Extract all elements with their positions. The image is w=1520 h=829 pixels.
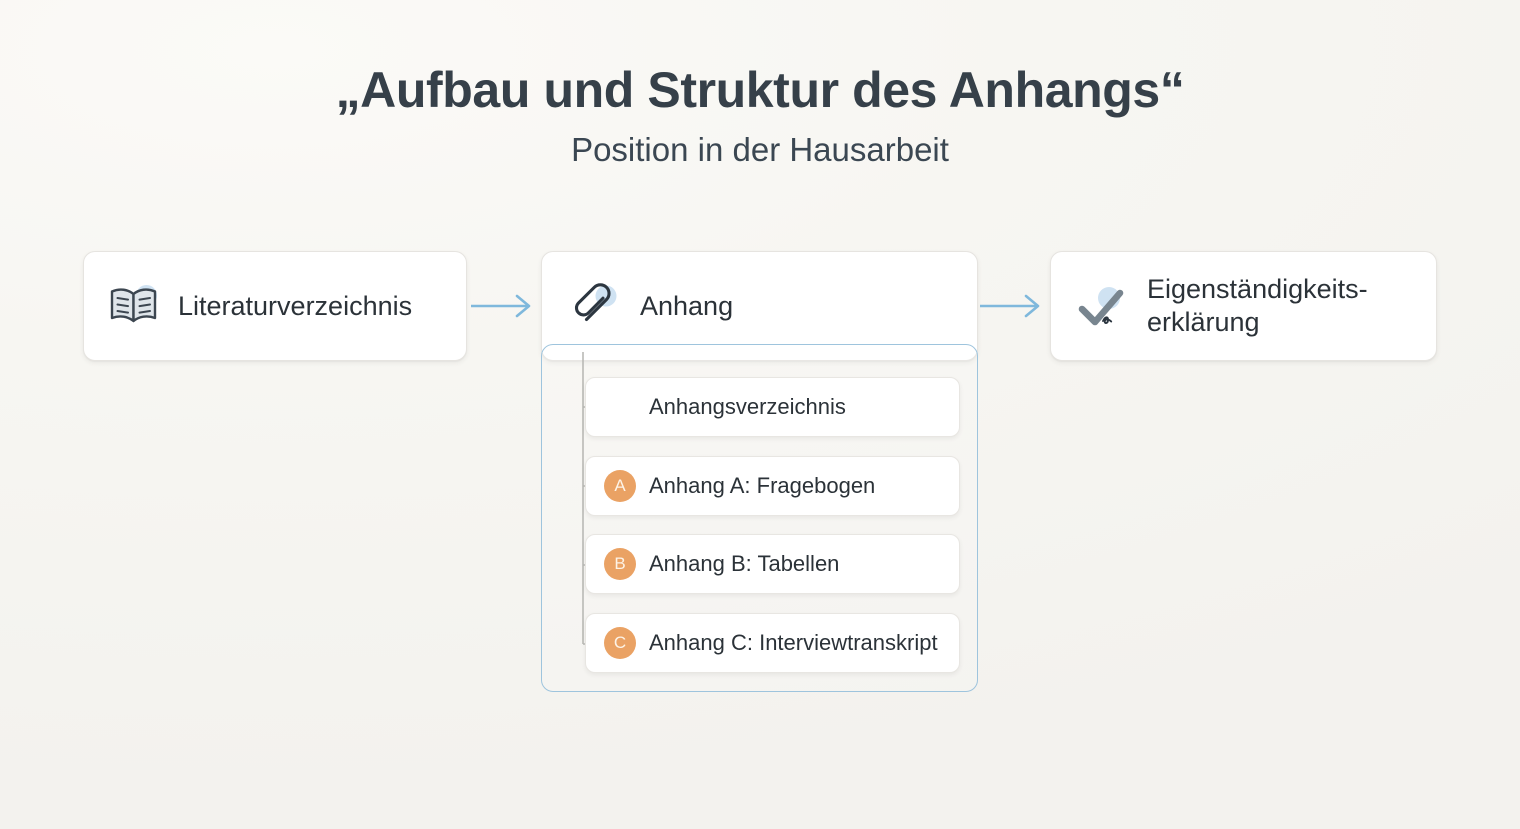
arrow-right-icon	[980, 291, 1050, 321]
sub-item-anhang-b[interactable]: B Anhang B: Tabellen	[585, 534, 960, 594]
flow-step-label: Anhang	[640, 290, 733, 323]
sub-item-badge: A	[604, 470, 636, 502]
sub-item-anhangsverzeichnis[interactable]: Anhangsverzeichnis	[585, 377, 960, 437]
sub-item-label: Anhang B: Tabellen	[649, 551, 839, 577]
sub-item-anhang-c[interactable]: C Anhang C: Interviewtranskript	[585, 613, 960, 673]
heading-block: „Aufbau und Struktur des Anhangs“ Positi…	[0, 62, 1520, 169]
sub-item-badge: C	[604, 627, 636, 659]
sub-item-anhang-a[interactable]: A Anhang A: Fragebogen	[585, 456, 960, 516]
page-subtitle: Position in der Hausarbeit	[0, 130, 1520, 170]
paperclip-icon	[568, 279, 626, 333]
flow-step-label: Eigenständigkeits- erklärung	[1147, 273, 1368, 339]
open-book-icon	[106, 279, 164, 333]
sub-item-label: Anhang A: Fragebogen	[649, 473, 875, 499]
signed-check-icon	[1075, 279, 1133, 333]
sub-item-label: Anhang C: Interviewtranskript	[649, 630, 938, 656]
flow-step-literaturverzeichnis[interactable]: Literaturverzeichnis	[83, 251, 467, 361]
sub-item-badge	[604, 391, 636, 423]
sub-item-label: Anhangsverzeichnis	[649, 394, 846, 420]
diagram-canvas: „Aufbau und Struktur des Anhangs“ Positi…	[0, 0, 1520, 829]
sub-item-badge: B	[604, 548, 636, 580]
flow-step-label: Literaturverzeichnis	[178, 290, 412, 323]
flow-step-eigenstaendigkeitserklaerung[interactable]: Eigenständigkeits- erklärung	[1050, 251, 1437, 361]
arrow-right-icon	[471, 291, 541, 321]
page-title: „Aufbau und Struktur des Anhangs“	[0, 62, 1520, 120]
